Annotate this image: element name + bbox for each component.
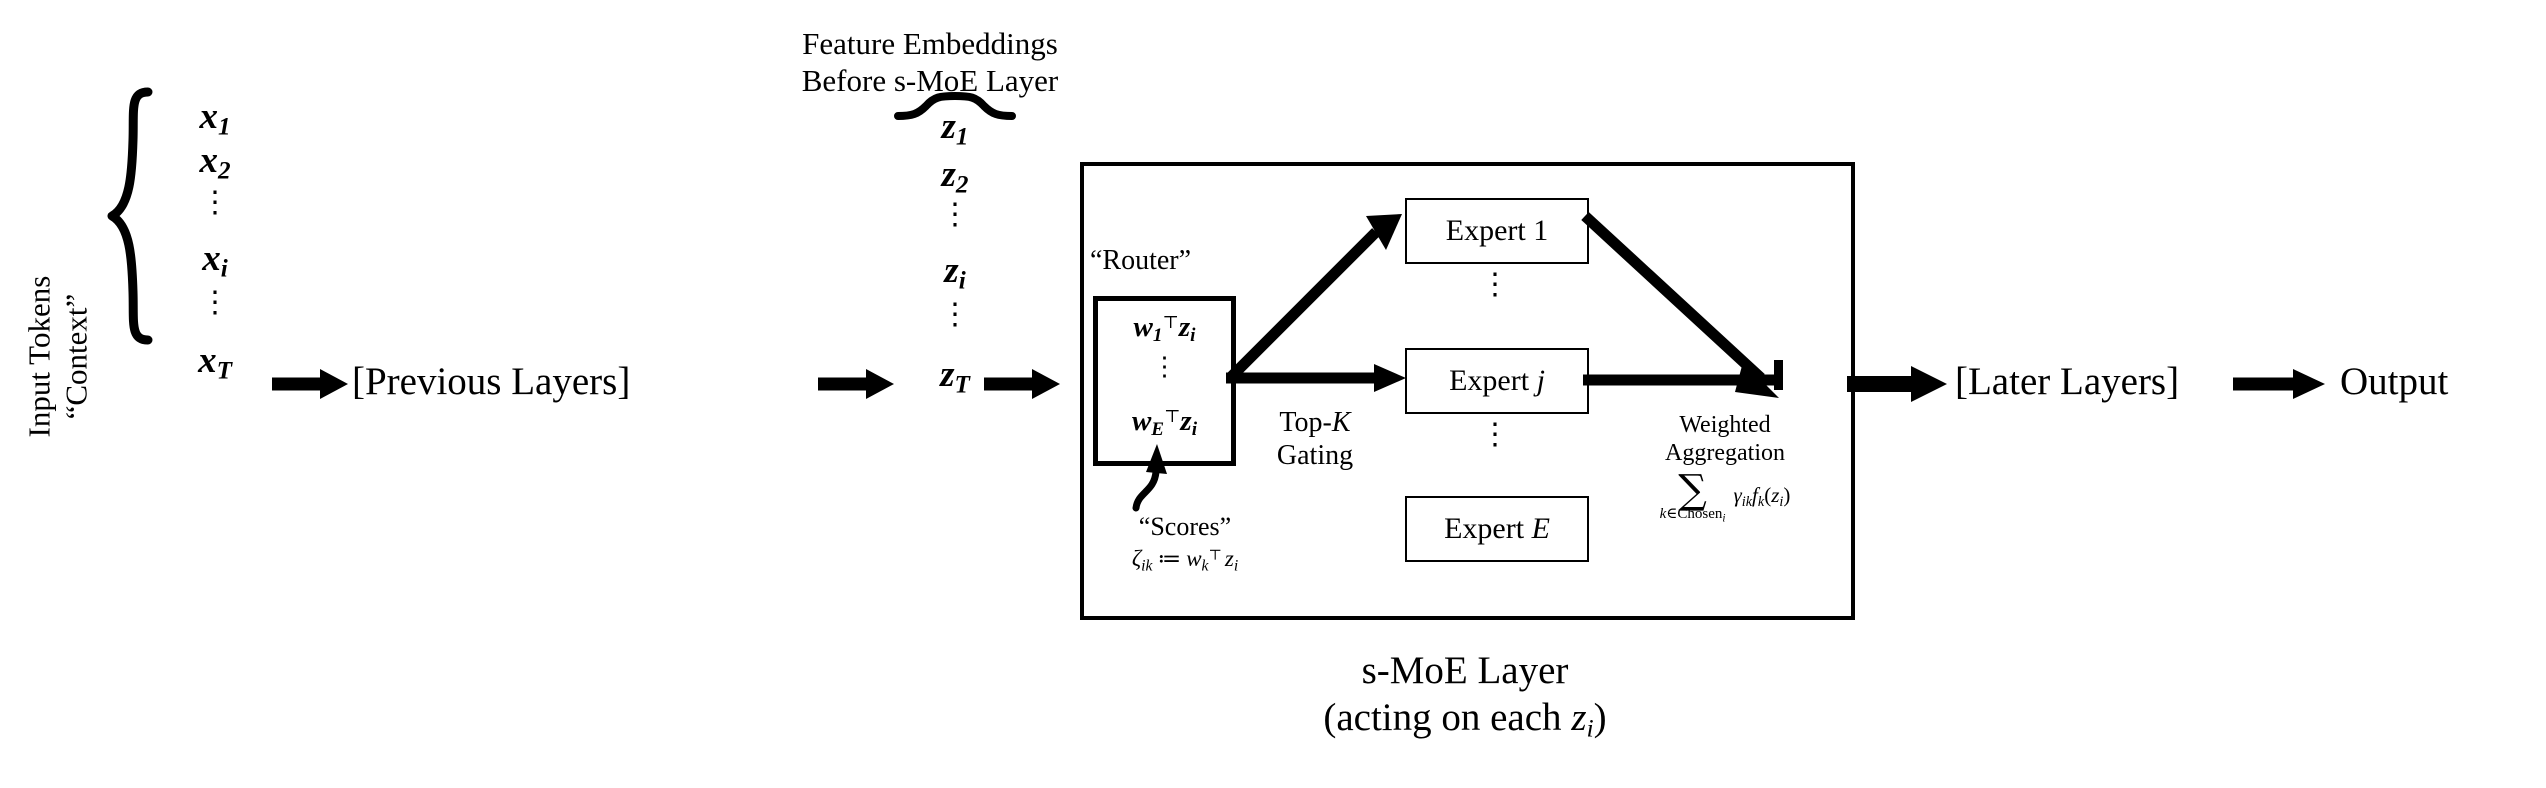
feature-embeddings-caption-line1: Feature Embeddings: [755, 26, 1105, 63]
arrow-x-to-previous-layers: [272, 366, 348, 402]
token-xT: xT: [170, 342, 260, 386]
aggregation-junction: [1770, 360, 1786, 390]
router-row-E-z: z: [1180, 405, 1191, 437]
topk-gating-line1-italic: K: [1332, 407, 1351, 438]
expert-vdots-lower: ⋮: [1405, 426, 1585, 445]
previous-layers-block: [Previous Layers]: [352, 362, 630, 401]
arrow-aggregation-to-later-layers: [1847, 362, 1947, 406]
input-tokens-label-line2: “Context”: [58, 207, 95, 507]
input-token-column: x1 x2 ⋮ xi ⋮ xT: [170, 98, 260, 386]
arrow-router-to-expert-j: [1226, 360, 1406, 396]
token-xi-sub: i: [221, 256, 228, 283]
later-layers-block: [Later Layers]: [1955, 362, 2179, 401]
input-tokens-label-line1: Input Tokens: [21, 207, 58, 507]
expert-box-1-label-index: 1: [1533, 214, 1548, 247]
token-x-vdots-upper: ⋮: [170, 194, 260, 240]
token-z2-sub: 2: [956, 172, 969, 199]
scores-formula: ζik≔wk⊤zi: [1080, 546, 1290, 575]
token-x1-sub: 1: [218, 114, 231, 141]
expert-box-E-label: Expert E: [1444, 512, 1550, 546]
router-row-1-zsub: i: [1190, 325, 1195, 346]
smoe-caption-line2-z: z: [1571, 696, 1586, 739]
embedding-token-column: z1 z2 ⋮ zi ⋮ zT: [910, 108, 1000, 402]
feature-embeddings-caption: Feature Embeddings Before s-MoE Layer: [755, 26, 1105, 99]
token-z2-base: z: [942, 154, 956, 195]
router-rows-vdots: ⋮: [1098, 359, 1231, 407]
topk-gating-line1-plain: Top-: [1279, 407, 1331, 438]
token-x2-base: x: [199, 140, 218, 181]
token-x2-sub: 2: [218, 158, 231, 185]
input-tokens-label: Input Tokens “Context”: [21, 207, 94, 507]
arrow-expert-j-to-aggregation: [1583, 368, 1783, 392]
weighted-aggregation-formula: ∑ k∈Choseni γikfk(zi): [1600, 472, 1850, 523]
expert-box-j-label-index: j: [1537, 364, 1545, 397]
topk-gating-line2: Gating: [1240, 439, 1390, 472]
smoe-caption-line2-z-sub: i: [1587, 713, 1594, 742]
weighted-aggregation-line2: Aggregation: [1600, 440, 1850, 468]
router-row-E-zsub: i: [1192, 419, 1197, 440]
scores-formula-z-sub: i: [1234, 557, 1238, 574]
token-x-vdots-lower: ⋮: [170, 294, 260, 342]
weighted-aggregation-line1: Weighted: [1600, 412, 1850, 440]
token-zT-sub: T: [955, 372, 970, 399]
router-row-E-w: w: [1132, 405, 1151, 437]
scores-formula-zeta-sub: ik: [1141, 557, 1152, 574]
arrow-router-to-expert-1: [1226, 214, 1406, 384]
arrow-previous-layers-to-embeddings: [818, 366, 894, 402]
aggregation-sigma-group: ∑ k∈Choseni: [1660, 472, 1726, 523]
weighted-aggregation-annotation: Weighted Aggregation ∑ k∈Choseni γikfk(z…: [1600, 412, 1850, 523]
router-row-1-w: w: [1134, 311, 1153, 343]
expert-box-j-label: Expert j: [1449, 364, 1545, 398]
scores-formula-zeta: ζ: [1132, 546, 1141, 571]
aggregation-term: γikfk(zi): [1733, 483, 1790, 511]
expert-box-E[interactable]: Expert E: [1405, 496, 1589, 562]
aggregation-sigma-sub-in: ∈: [1666, 506, 1677, 522]
router-row-1-transpose: ⊤: [1162, 312, 1178, 332]
arrow-later-layers-to-output: [2233, 366, 2325, 402]
token-zT-base: z: [940, 354, 954, 395]
token-z1: z1: [910, 108, 1000, 156]
topk-gating-line1: Top-K: [1240, 406, 1390, 439]
expert-box-1-label: Expert 1: [1446, 214, 1548, 248]
expert-vdots-upper: ⋮: [1405, 276, 1585, 295]
aggregation-sigma-subscript: k∈Choseni: [1660, 508, 1726, 523]
scores-formula-transpose: ⊤: [1208, 548, 1221, 564]
token-z1-sub: 1: [956, 124, 969, 151]
aggregation-sigma-sub-i: i: [1722, 512, 1725, 524]
expert-box-1[interactable]: Expert 1: [1405, 198, 1589, 264]
topk-gating-label: Top-K Gating: [1240, 406, 1390, 472]
scores-formula-assign: ≔: [1157, 546, 1181, 571]
scores-annotation: “Scores” ζik≔wk⊤zi: [1080, 512, 1290, 575]
expert-box-E-label-index: E: [1532, 512, 1550, 545]
smoe-caption-line2: (acting on each zi): [1165, 695, 1765, 745]
smoe-caption: s-MoE Layer (acting on each zi): [1165, 648, 1765, 744]
smoe-caption-line2-post: ): [1594, 696, 1607, 739]
token-z-vdots-lower: ⋮: [910, 306, 1000, 356]
aggregation-term-gamma: γ: [1733, 483, 1741, 507]
arrow-embeddings-to-router: [984, 366, 1060, 402]
router-row-E-wsub: E: [1151, 419, 1164, 440]
token-zi-sub: i: [959, 268, 966, 295]
expert-box-j[interactable]: Expert j: [1405, 348, 1589, 414]
aggregation-term-gamma-sub: ik: [1742, 494, 1752, 510]
token-xT-sub: T: [217, 358, 232, 385]
aggregation-term-paren-close: ): [1783, 483, 1790, 507]
token-x1: x1: [170, 98, 260, 142]
token-zi-base: z: [944, 250, 958, 291]
expert-box-j-label-plain: Expert: [1449, 364, 1536, 397]
smoe-caption-line2-pre: (acting on each: [1323, 696, 1571, 739]
token-x1-base: x: [199, 96, 218, 137]
aggregation-sigma: ∑: [1678, 472, 1707, 508]
router-label: “Router”: [1090, 245, 1191, 277]
token-xi-base: x: [202, 238, 221, 279]
token-z-vdots-upper: ⋮: [910, 206, 1000, 252]
token-xT-base: x: [198, 340, 217, 381]
input-tokens-brace: [100, 88, 160, 348]
router-row-E-transpose: ⊤: [1164, 406, 1180, 426]
expert-box-1-label-plain: Expert: [1446, 214, 1533, 247]
scores-curved-arrow: [1124, 438, 1194, 510]
smoe-caption-line1: s-MoE Layer: [1165, 648, 1765, 695]
diagram-canvas: Input Tokens “Context” x1 x2 ⋮ xi ⋮ xT […: [0, 0, 2546, 788]
aggregation-sigma-sub-chosen: Chosen: [1677, 506, 1722, 522]
token-z1-base: z: [942, 106, 956, 147]
scores-formula-z: z: [1225, 546, 1234, 571]
output-label: Output: [2340, 362, 2448, 401]
router-row-1-z: z: [1179, 311, 1190, 343]
expert-box-E-label-plain: Expert: [1444, 512, 1531, 545]
scores-label: “Scores”: [1080, 512, 1290, 542]
router-scores-list: w1⊤zi ⋮ wE⊤zi: [1098, 301, 1231, 453]
scores-formula-w: w: [1186, 546, 1201, 571]
